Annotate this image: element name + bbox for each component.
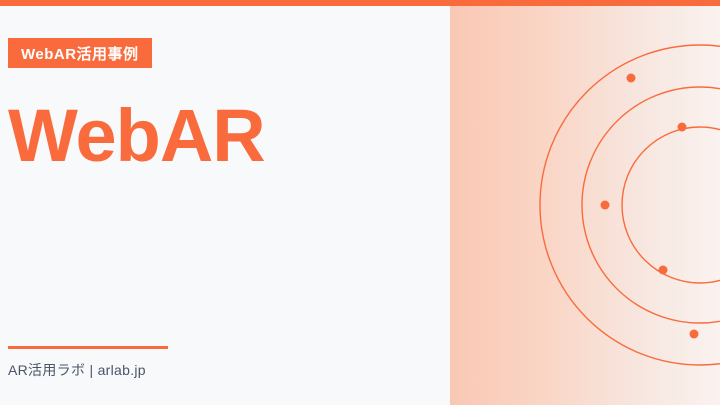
dot-4-icon [659,266,668,275]
footer-divider [8,346,168,349]
footer-credit: AR活用ラボ | arlab.jp [8,360,146,380]
dot-2-icon [678,123,687,132]
dot-5-icon [690,330,699,339]
inner-circle [622,127,720,283]
outer-circle [540,45,720,365]
page-title: WebAR [8,99,265,173]
content-column: WebAR活用事例 WebAR AR活用ラボ | arlab.jp [0,0,450,405]
category-badge: WebAR活用事例 [8,38,152,68]
slide-root: WebAR活用事例 WebAR AR活用ラボ | arlab.jp [0,0,720,405]
dot-3-icon [601,201,610,210]
top-accent-bar [0,0,720,6]
decorative-panel [450,0,720,405]
concentric-circles-graphic [450,0,720,405]
dot-1-icon [627,74,636,83]
